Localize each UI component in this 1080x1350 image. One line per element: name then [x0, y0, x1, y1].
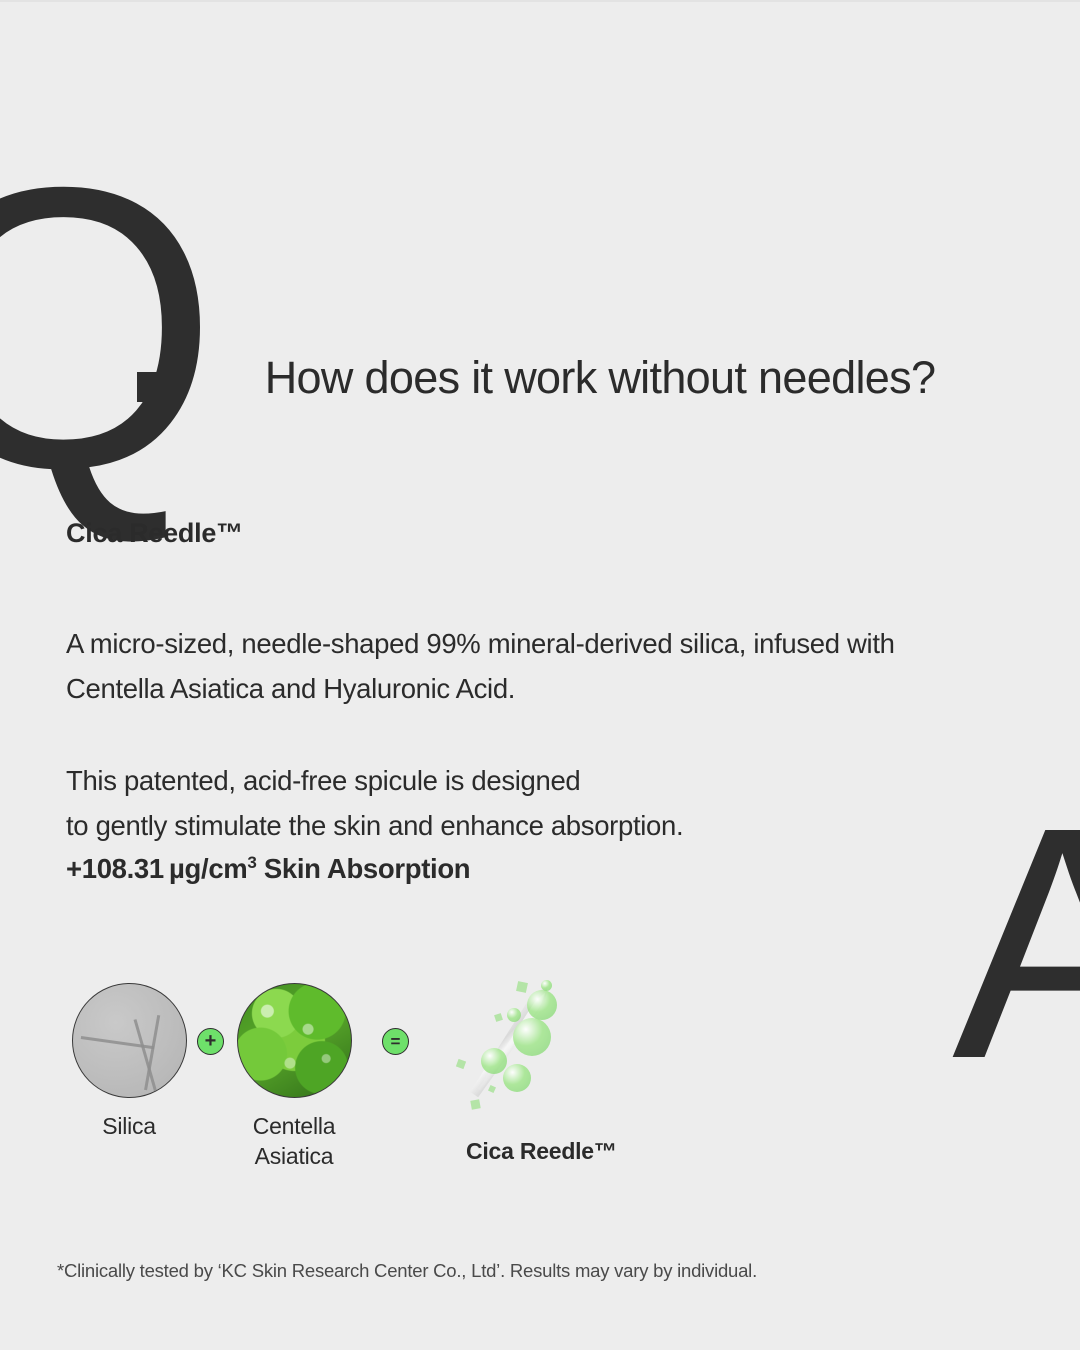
equation-item-centella: Centella Asiatica — [231, 983, 357, 1172]
equation-label-silica: Silica — [66, 1112, 192, 1142]
equation-label-centella-line2: Asiatica — [255, 1143, 334, 1169]
particle — [494, 1013, 503, 1022]
particle — [470, 1099, 480, 1109]
equation-label-centella-line1: Centella — [253, 1113, 336, 1139]
equals-icon: = — [382, 1028, 409, 1055]
plus-icon: + — [197, 1028, 224, 1055]
square-bullet-icon — [137, 372, 165, 402]
absorption-claim-label: Skin Absorption — [257, 853, 471, 884]
bubble — [507, 1008, 521, 1022]
absorption-claim-superscript: 3 — [247, 853, 256, 872]
bubble — [513, 1018, 551, 1056]
watermark-letter-a: A — [952, 778, 1080, 1108]
silica-microscope-icon — [72, 983, 187, 1098]
page-title: How does it work without needles? — [200, 352, 1000, 404]
bubble — [503, 1064, 531, 1092]
body-copy: Cica Reedle™ A micro-sized, needle-shape… — [66, 518, 966, 889]
description-paragraph-2-line-2: to gently stimulate the skin and enhance… — [66, 804, 966, 849]
absorption-claim: +108.31 µg/cm3 Skin Absorption — [66, 848, 966, 889]
equation-item-silica: Silica — [66, 983, 192, 1142]
headline-row: How does it work without needles? — [0, 352, 1080, 414]
particle — [488, 1085, 496, 1093]
top-divider — [0, 0, 1080, 2]
equation-label-centella: Centella Asiatica — [231, 1112, 357, 1172]
particle — [456, 1059, 466, 1069]
bubble — [527, 990, 557, 1020]
bubble — [541, 980, 552, 991]
bubble — [481, 1048, 507, 1074]
equation-item-cica-reedle: Cica Reedle™ — [421, 983, 631, 1165]
centella-leaves-icon — [237, 983, 352, 1098]
watermark-letter-q: Q — [0, 128, 211, 528]
product-info-page: Q A How does it work without needles? Ci… — [0, 0, 1080, 1350]
description-paragraph-1: A micro-sized, needle-shaped 99% mineral… — [66, 622, 966, 711]
ingredient-equation: Silica + Centella Asiatica = — [66, 983, 686, 1213]
footnote: *Clinically tested by ‘KC Skin Research … — [57, 1260, 757, 1282]
equation-label-cica-reedle: Cica Reedle™ — [466, 1138, 617, 1164]
absorption-claim-value: +108.31 µg/cm — [66, 853, 247, 884]
description-paragraph-2-line-1: This patented, acid-free spicule is desi… — [66, 759, 966, 804]
equation-label-wrap: Cica Reedle™ — [421, 1138, 631, 1165]
particle — [516, 981, 528, 993]
cica-reedle-spicule-icon — [451, 968, 601, 1118]
product-name: Cica Reedle™ — [66, 518, 966, 549]
